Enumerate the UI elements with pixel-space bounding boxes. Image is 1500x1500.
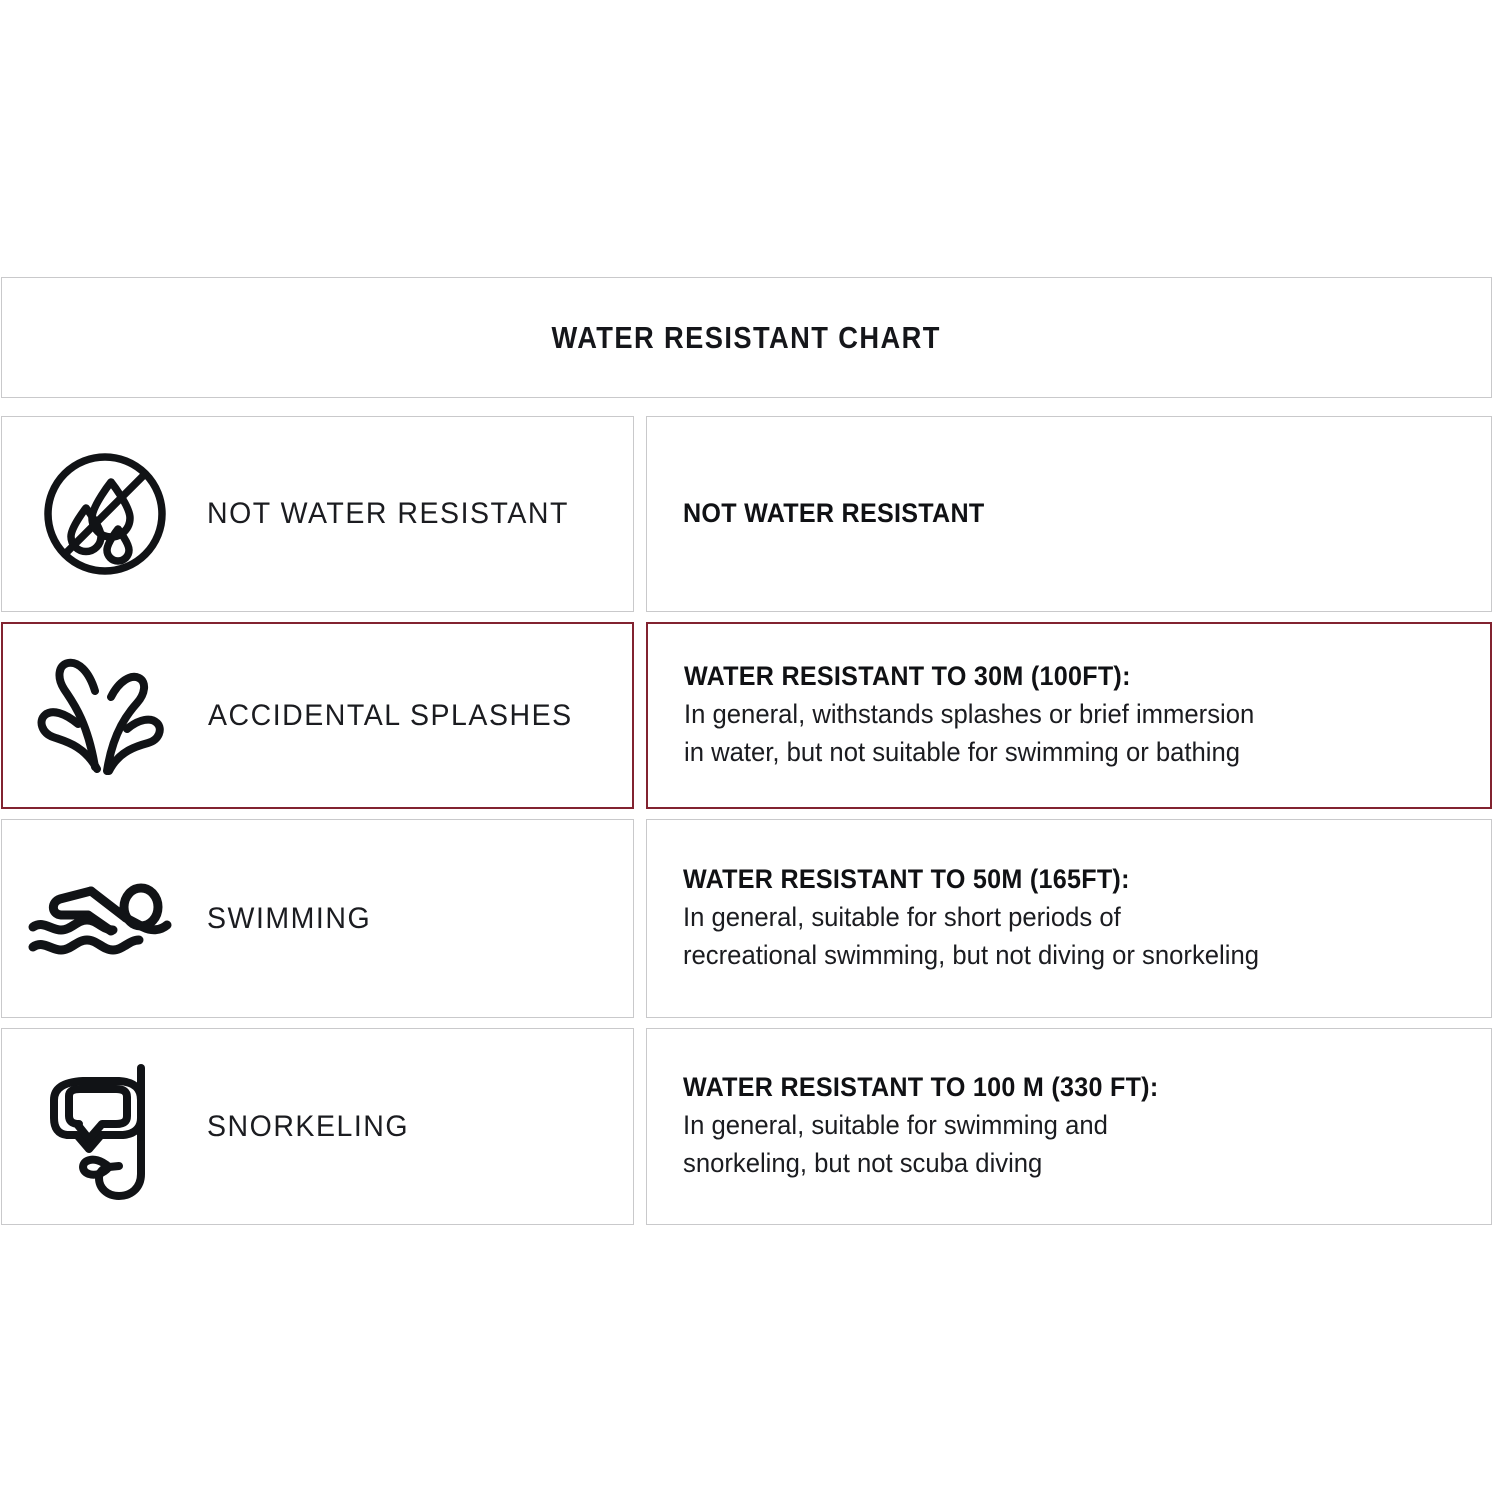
rating-body-line: recreational swimming, but not diving or…	[683, 936, 1259, 974]
rating-body-line: snorkeling, but not scuba diving	[683, 1144, 1169, 1182]
snorkel-mask-icon	[2, 1048, 207, 1206]
table-row: SNORKELING WATER RESISTANT TO 100 M (330…	[1, 1028, 1493, 1225]
rating-description: WATER RESISTANT TO 30M (100FT): In gener…	[648, 659, 1304, 771]
table-row: NOT WATER RESISTANT NOT WATER RESISTANT	[1, 416, 1493, 612]
activity-label: NOT WATER RESISTANT	[207, 497, 569, 531]
activity-cell-snorkeling[interactable]: SNORKELING	[1, 1028, 634, 1225]
activity-label: ACCIDENTAL SPLASHES	[208, 699, 573, 733]
page-title: WATER RESISTANT CHART	[552, 320, 941, 356]
rating-heading: WATER RESISTANT TO 30M (100FT):	[684, 659, 1242, 695]
chart-title-box: WATER RESISTANT CHART	[1, 277, 1492, 398]
rating-body: In general, suitable for swimming and sn…	[683, 1106, 1169, 1183]
activity-cell-accidental-splashes[interactable]: ACCIDENTAL SPLASHES	[1, 622, 634, 809]
rating-body: In general, withstands splashes or brief…	[684, 695, 1254, 772]
activity-label: SWIMMING	[207, 902, 371, 936]
rating-cell-50m[interactable]: WATER RESISTANT TO 50M (165FT): In gener…	[646, 819, 1492, 1018]
rating-body-line: In general, withstands splashes or brief…	[684, 695, 1254, 733]
rating-description: WATER RESISTANT TO 50M (165FT): In gener…	[647, 862, 1309, 974]
rating-heading: WATER RESISTANT TO 50M (165FT):	[683, 862, 1247, 898]
rating-cell-not-water-resistant[interactable]: NOT WATER RESISTANT	[646, 416, 1492, 612]
water-splash-icon	[3, 645, 208, 787]
activity-cell-swimming[interactable]: SWIMMING	[1, 819, 634, 1018]
rating-description: NOT WATER RESISTANT	[647, 496, 1027, 532]
activity-cell-not-water-resistant[interactable]: NOT WATER RESISTANT	[1, 416, 634, 612]
swimmer-icon	[2, 869, 207, 969]
rating-body: In general, suitable for short periods o…	[683, 898, 1259, 975]
rating-heading: NOT WATER RESISTANT	[683, 496, 985, 532]
rating-body-line: in water, but not suitable for swimming …	[684, 733, 1254, 771]
rating-cell-100m[interactable]: WATER RESISTANT TO 100 M (330 FT): In ge…	[646, 1028, 1492, 1225]
rating-cell-30m[interactable]: WATER RESISTANT TO 30M (100FT): In gener…	[646, 622, 1492, 809]
rating-heading: WATER RESISTANT TO 100 M (330 FT):	[683, 1070, 1158, 1106]
table-row: SWIMMING WATER RESISTANT TO 50M (165FT):…	[1, 819, 1493, 1018]
water-resistant-chart: WATER RESISTANT CHART NOT WATER RESISTAN…	[1, 277, 1493, 1225]
table-row: ACCIDENTAL SPLASHES WATER RESISTANT TO 3…	[1, 622, 1493, 809]
rating-body-line: In general, suitable for short periods o…	[683, 898, 1259, 936]
activity-label: SNORKELING	[207, 1110, 409, 1144]
rating-body-line: In general, suitable for swimming and	[683, 1106, 1169, 1144]
rating-description: WATER RESISTANT TO 100 M (330 FT): In ge…	[647, 1070, 1214, 1182]
no-water-drop-icon	[2, 448, 207, 580]
